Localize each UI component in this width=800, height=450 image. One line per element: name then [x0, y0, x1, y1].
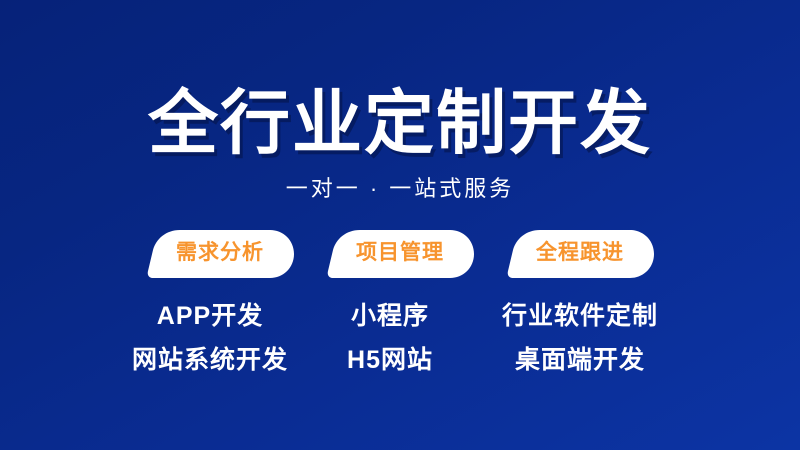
badge-requirement-analysis[interactable]: 需求分析 — [146, 230, 294, 278]
service-columns: APP开发 网站系统开发 小程序 H5网站 行业软件定制 桌面端开发 — [120, 304, 680, 373]
service-column-industry-software: 行业软件定制 桌面端开发 — [480, 304, 680, 373]
promo-banner: 全行业定制开发 一对一 · 一站式服务 需求分析 项目管理 全程跟进 APP开发… — [0, 0, 800, 450]
page-title: 全行业定制开发 — [148, 88, 652, 158]
badge-label: 全程跟进 — [536, 242, 624, 263]
service-column-app: APP开发 网站系统开发 — [120, 304, 300, 373]
badge-row: 需求分析 项目管理 全程跟进 — [146, 230, 654, 278]
badge-full-process-tracking[interactable]: 全程跟进 — [506, 230, 654, 278]
subtitle: 一对一 · 一站式服务 — [286, 178, 515, 200]
service-item: 网站系统开发 — [132, 348, 288, 373]
badge-project-management[interactable]: 项目管理 — [326, 230, 474, 278]
service-item: H5网站 — [347, 348, 433, 373]
badge-label: 项目管理 — [356, 242, 444, 263]
service-item: APP开发 — [157, 304, 263, 329]
service-column-miniprogram: 小程序 H5网站 — [300, 304, 480, 373]
service-item: 桌面端开发 — [515, 348, 645, 373]
service-item: 小程序 — [351, 304, 429, 329]
service-item: 行业软件定制 — [502, 304, 658, 329]
badge-label: 需求分析 — [176, 242, 264, 263]
